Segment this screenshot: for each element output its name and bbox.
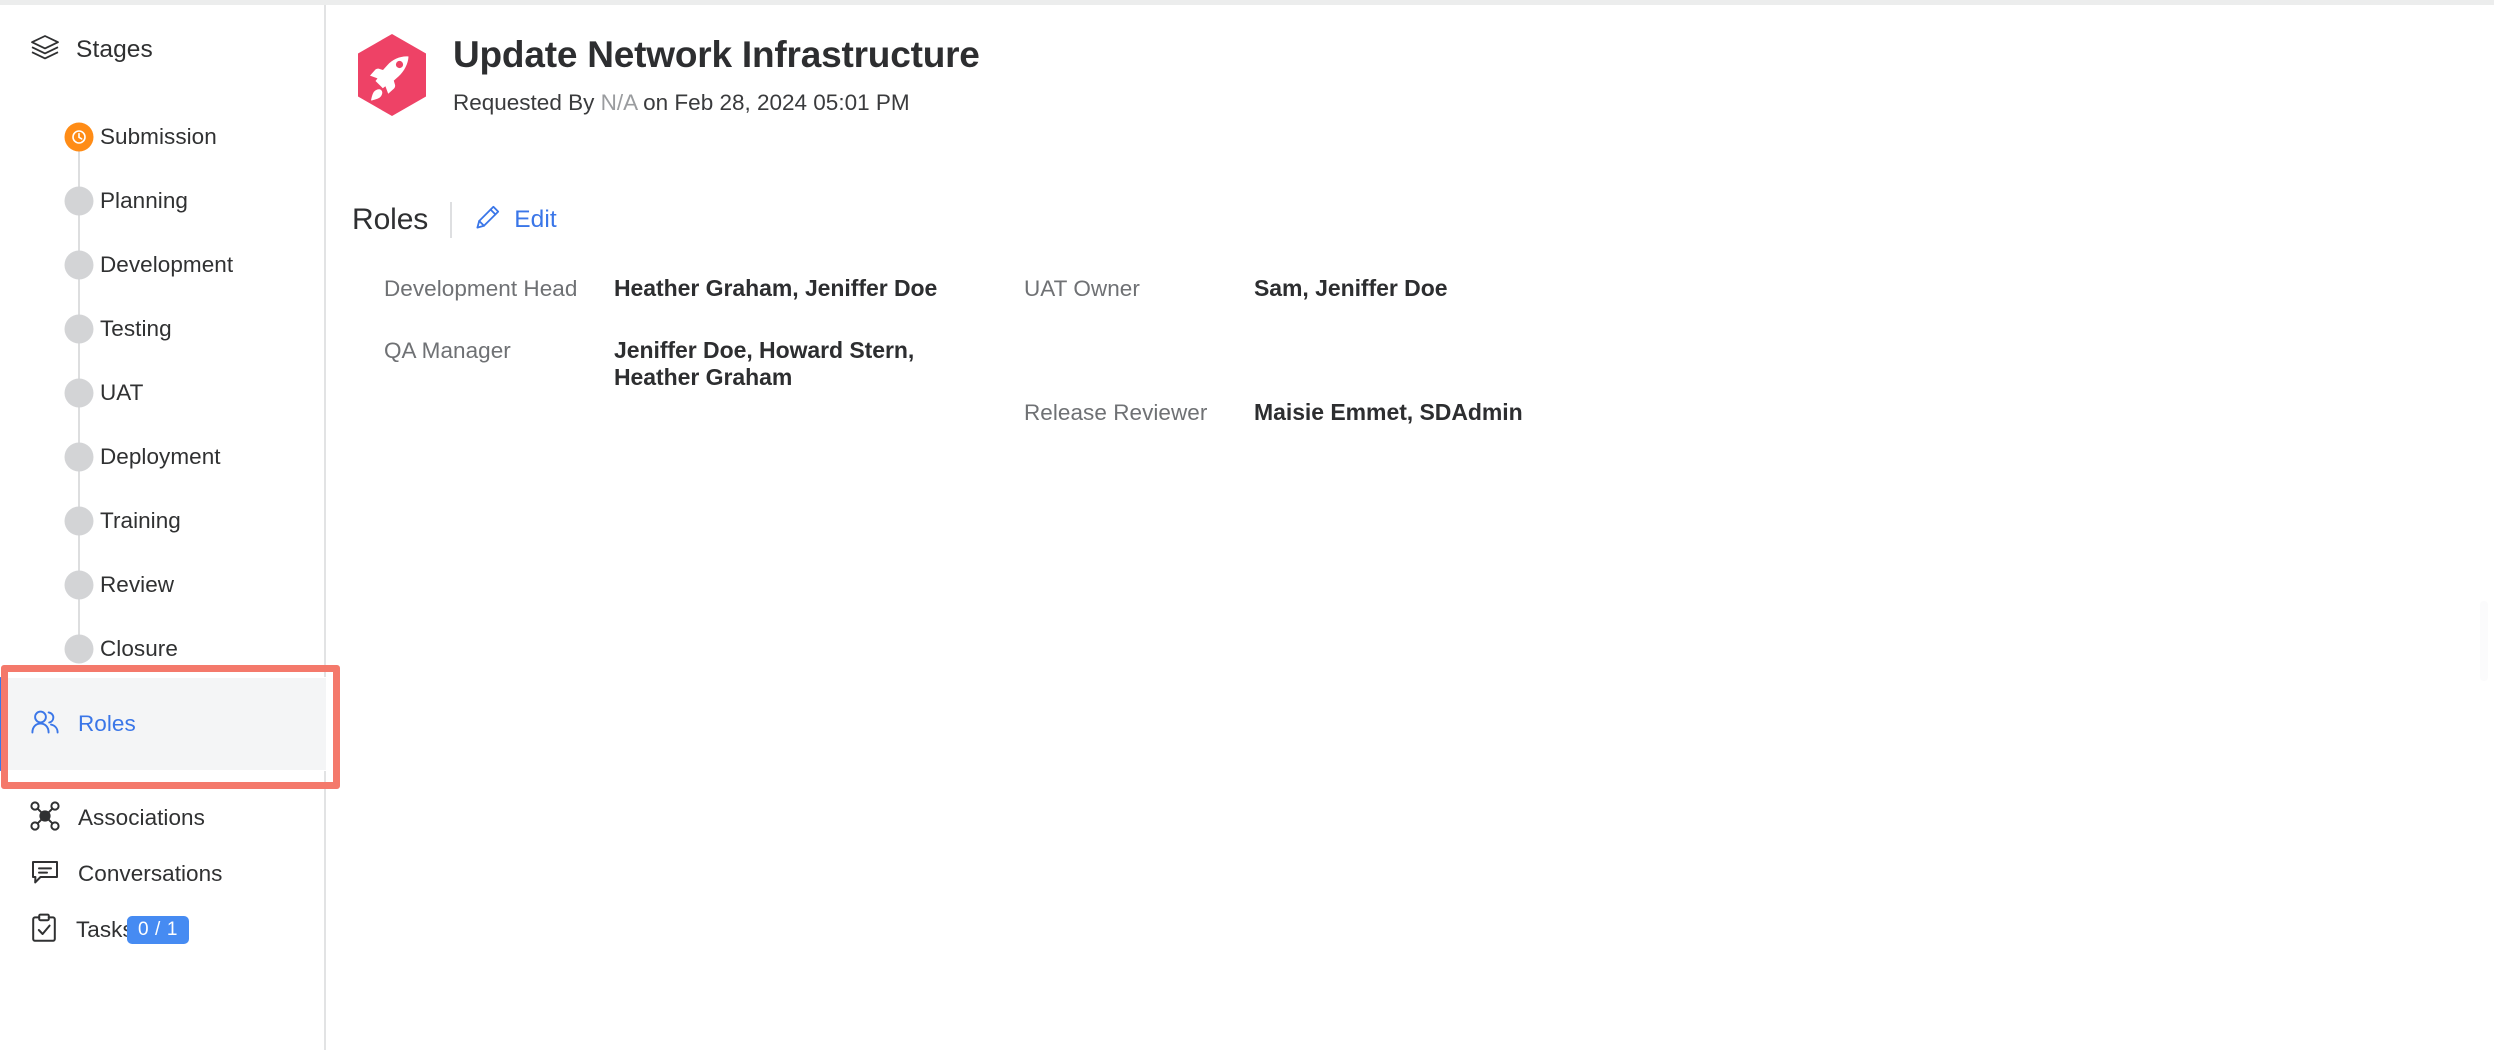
stages-header-label: Stages	[76, 36, 153, 64]
stage-dot	[65, 635, 94, 664]
stage-item-submission[interactable]: Submission	[0, 105, 326, 169]
role-value: Heather Graham, Jeniffer Doe	[614, 273, 937, 302]
edit-roles-button[interactable]: Edit	[474, 204, 557, 236]
record-meta: Requested By N/A on Feb 28, 2024 05:01 P…	[453, 90, 980, 116]
stage-label: Submission	[100, 124, 217, 150]
stage-dot	[65, 571, 94, 600]
role-row-uat-owner: UAT Owner Sam, Jeniffer Doe	[992, 273, 2452, 335]
sidebar-item-roles[interactable]: Roles	[0, 677, 326, 771]
stage-label: Planning	[100, 188, 188, 214]
stage-item-planning[interactable]: Planning	[0, 169, 326, 233]
record-header-text: Update Network Infrastructure Requested …	[453, 27, 980, 116]
requested-by-prefix: Requested By	[453, 90, 594, 115]
stage-item-closure[interactable]: Closure	[0, 617, 326, 681]
users-icon	[30, 708, 60, 741]
clipboard-check-icon	[30, 913, 58, 948]
vertical-scrollbar[interactable]	[2480, 601, 2488, 681]
role-row-release-reviewer: Release Reviewer Maisie Emmet, SDAdmin	[992, 397, 2452, 459]
sidebar-item-tasks[interactable]: Tasks 0 / 1	[0, 883, 326, 977]
layers-icon	[30, 34, 60, 65]
stage-list: Submission Planning Development Testing	[0, 105, 326, 681]
stage-label: Testing	[100, 316, 172, 342]
edit-roles-label: Edit	[514, 206, 557, 234]
stage-item-uat[interactable]: UAT	[0, 361, 326, 425]
stage-label: Development	[100, 252, 233, 278]
sidebar: Stages Submission Planning	[0, 5, 326, 1050]
stage-dot	[65, 379, 94, 408]
record-header: Update Network Infrastructure Requested …	[353, 27, 980, 118]
stage-label: Review	[100, 572, 174, 598]
rocket-hexagon-icon	[353, 32, 431, 118]
roles-grid: Development Head Heather Graham, Jeniffe…	[352, 273, 2452, 459]
stage-dot	[65, 315, 94, 344]
sidebar-item-label: Tasks	[76, 917, 134, 943]
tasks-count-badge: 0 / 1	[127, 916, 189, 944]
stage-dot	[65, 187, 94, 216]
page-title: Update Network Infrastructure	[453, 34, 980, 77]
role-row-development-head: Development Head Heather Graham, Jeniffe…	[352, 273, 992, 335]
role-value: Jeniffer Doe, Howard Stern, Heather Grah…	[614, 335, 992, 391]
stage-item-deployment[interactable]: Deployment	[0, 425, 326, 489]
pencil-icon	[474, 204, 501, 236]
clock-icon	[65, 123, 94, 152]
role-key: QA Manager	[384, 335, 614, 364]
requested-by-value: N/A	[601, 90, 637, 115]
section-title: Roles	[352, 203, 428, 237]
role-value: Sam, Jeniffer Doe	[1254, 273, 1447, 302]
stage-label: Closure	[100, 636, 178, 662]
stage-dot	[65, 443, 94, 472]
stage-item-training[interactable]: Training	[0, 489, 326, 553]
section-divider	[450, 202, 452, 238]
app-root: Stages Submission Planning	[0, 0, 2494, 1050]
requested-on: on Feb 28, 2024 05:01 PM	[643, 90, 909, 115]
stage-label: UAT	[100, 380, 143, 406]
stage-label: Deployment	[100, 444, 221, 470]
stage-label: Training	[100, 508, 181, 534]
role-row-qa-manager: QA Manager Jeniffer Doe, Howard Stern, H…	[352, 335, 992, 397]
role-value: Maisie Emmet, SDAdmin	[1254, 397, 1523, 426]
main-content: Update Network Infrastructure Requested …	[328, 5, 2494, 1050]
section-header: Roles Edit	[352, 202, 557, 238]
stage-dot	[65, 507, 94, 536]
stage-item-testing[interactable]: Testing	[0, 297, 326, 361]
role-key: UAT Owner	[1024, 273, 1254, 302]
role-key: Release Reviewer	[1024, 397, 1254, 426]
stage-dot	[65, 251, 94, 280]
stage-item-development[interactable]: Development	[0, 233, 326, 297]
stages-header: Stages	[30, 34, 153, 65]
stage-item-review[interactable]: Review	[0, 553, 326, 617]
sidebar-item-label: Roles	[78, 711, 136, 737]
role-key: Development Head	[384, 273, 614, 302]
